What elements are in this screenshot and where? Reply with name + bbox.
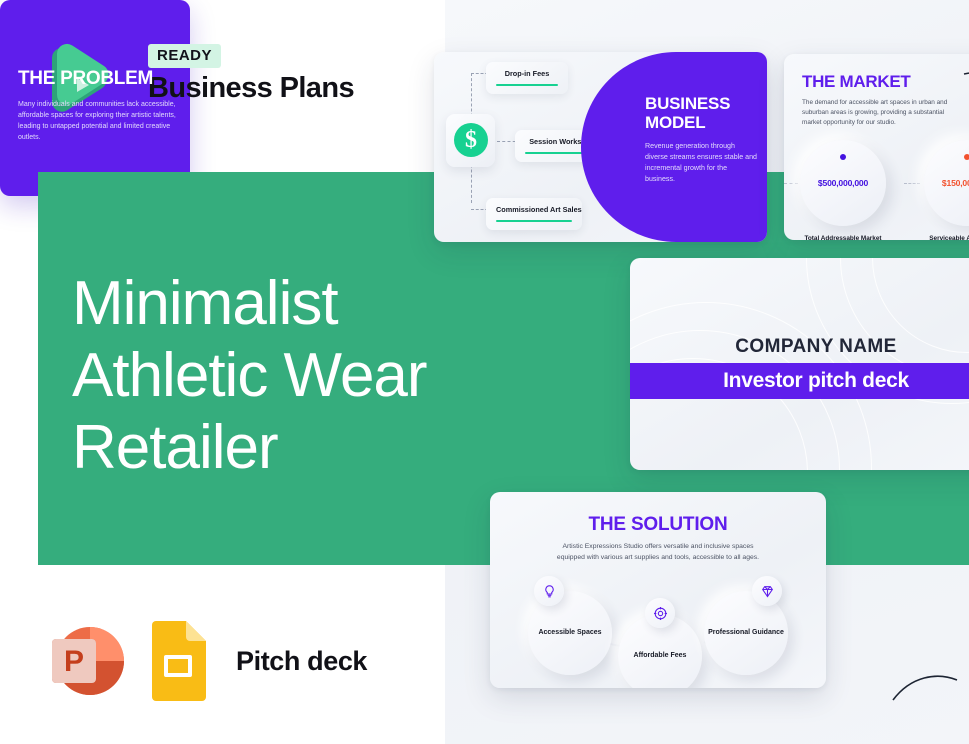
revenue-hub: $ [446,114,495,167]
market-rule [904,183,920,184]
slide-business-model[interactable]: $ Drop-in Fees Session Workshops Commiss… [434,52,767,242]
curved-arrow-icon [962,68,969,114]
revenue-stream-label: Drop-in Fees [496,69,558,78]
solution-node-label: Accessible Spaces [538,628,601,638]
business-model-title: BUSINESS MODEL [645,94,757,132]
solution-node[interactable]: Affordable Fees [618,614,702,688]
dollar-sign-icon: $ [454,123,488,157]
format-row: P P Pitch deck [44,618,367,704]
diamond-icon [752,576,782,606]
solution-node-label: Affordable Fees [634,651,687,661]
business-model-panel: BUSINESS MODEL Revenue generation throug… [581,52,767,242]
metric-dot [840,154,846,160]
problem-description: Many individuals and communities lack ac… [18,99,194,143]
slide-company-name[interactable]: COMPANY NAME Investor pitch deck [630,258,969,470]
slide-the-solution[interactable]: THE SOLUTION Artistic Expressions Studio… [490,492,826,688]
page-title: Minimalist Athletic Wear Retailer [72,268,502,484]
slide-the-market[interactable]: THE MARKET The demand for accessible art… [784,54,969,240]
revenue-stream-item[interactable]: Commissioned Art Sales [486,198,582,230]
market-description: The demand for accessible art spaces in … [802,98,960,128]
lightbulb-icon [534,576,564,606]
revenue-stream-label: Commissioned Art Sales [496,205,572,214]
svg-text:P: P [64,645,84,678]
metric-caption: Total Addressable Market (TAM) [800,234,886,240]
market-metric-tam[interactable]: $500,000,000 Total Addressable Market (T… [800,140,886,240]
solution-node-label: Professional Guidance [708,628,784,638]
market-metric-sam[interactable]: $150,000,000 Serviceable Addressable Mar… [924,140,969,240]
solution-node[interactable]: Accessible Spaces [528,591,612,675]
company-name-label: COMPANY NAME [630,336,969,358]
metric-dot [964,154,969,160]
market-rule [784,183,798,184]
target-icon [645,598,675,628]
metric-value: $500,000,000 [800,178,886,188]
market-title: THE MARKET [802,72,910,92]
ready-badge: READY [148,44,221,68]
investor-pitch-band: Investor pitch deck [630,363,969,399]
metric-value: $150,000,000 [924,178,969,188]
business-model-description: Revenue generation through diverse strea… [645,141,757,185]
accent-bar [496,220,572,222]
metric-caption: Serviceable Addressable Market (SAM) [924,234,969,240]
google-slides-icon [146,621,210,701]
solution-node[interactable]: Professional Guidance [704,591,788,675]
investor-pitch-label: Investor pitch deck [723,369,909,393]
problem-curve-decor [891,670,961,710]
revenue-stream-item[interactable]: Drop-in Fees [486,62,568,94]
powerpoint-icon: P P [44,619,128,703]
accent-bar [496,84,558,86]
problem-title: THE PROBLEM [18,68,153,90]
pitch-deck-label: Pitch deck [236,646,367,677]
poster-canvas: READY Business Plans Minimalist Athletic… [0,0,969,744]
brand-wordmark: READY Business Plans [148,44,354,105]
